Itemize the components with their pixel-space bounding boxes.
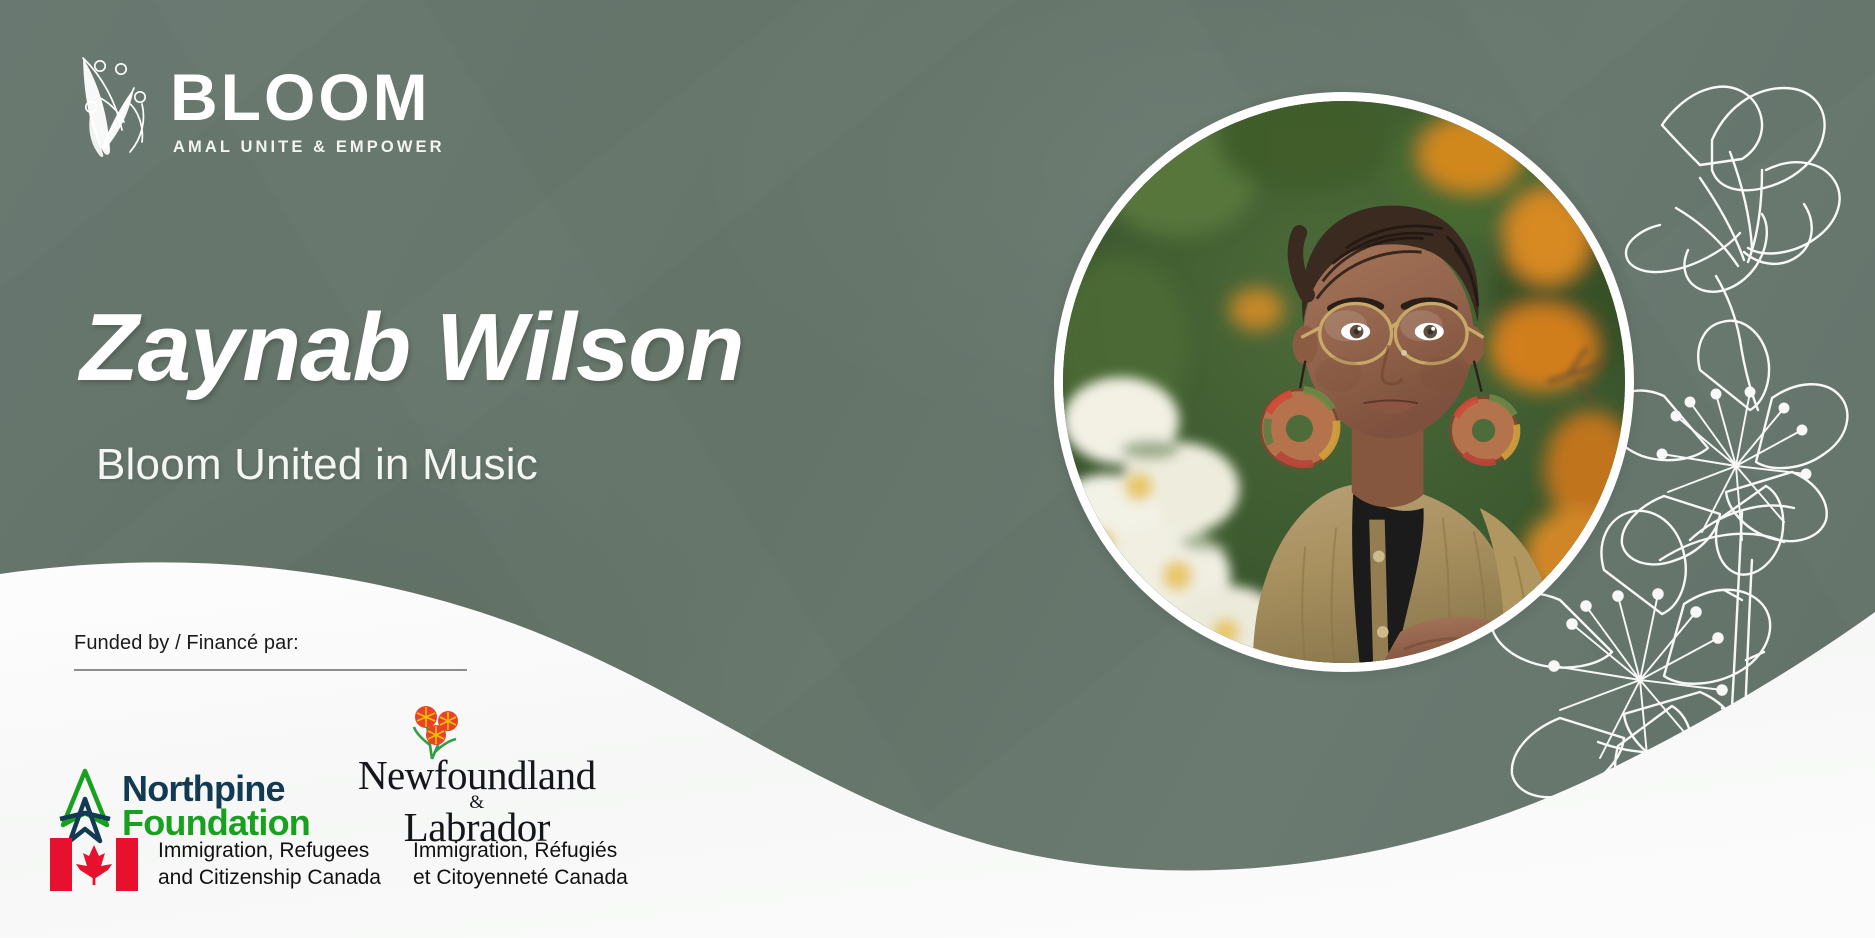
funded-by-label: Funded by / Financé par: — [74, 632, 794, 655]
funder-logos: Northpine Foundation — [52, 705, 596, 847]
ircc-english: Immigration, Refugees and Citizenship Ca… — [158, 838, 381, 892]
bloom-logo: BLOOM AMAL UNITE & EMPOWER — [72, 44, 445, 162]
northpine-foundation-logo: Northpine Foundation — [52, 765, 310, 847]
ircc-french: Immigration, Réfugiés et Citoyenneté Can… — [413, 838, 628, 892]
newfoundland-labrador-logo: Newfoundland & Labrador — [358, 705, 596, 847]
portrait-image — [1063, 101, 1625, 663]
logo-tagline: AMAL UNITE & EMPOWER — [170, 138, 445, 157]
nl-line1: Newfoundland — [358, 757, 596, 795]
canada-flag-icon — [50, 838, 138, 891]
immigration-refugees-citizenship-canada-logo: Immigration, Refugees and Citizenship Ca… — [50, 838, 628, 892]
pine-tree-star-icon — [52, 765, 118, 847]
event-banner: BLOOM AMAL UNITE & EMPOWER Zaynab Wilson… — [0, 0, 1875, 938]
speaker-portrait — [1054, 92, 1634, 672]
funding-section: Funded by / Financé par: — [74, 632, 794, 671]
divider — [74, 669, 467, 671]
northpine-line2: Foundation — [122, 805, 310, 841]
logo-wordmark: BLOOM — [170, 66, 445, 129]
bloom-leaf-people-mark — [72, 44, 154, 162]
